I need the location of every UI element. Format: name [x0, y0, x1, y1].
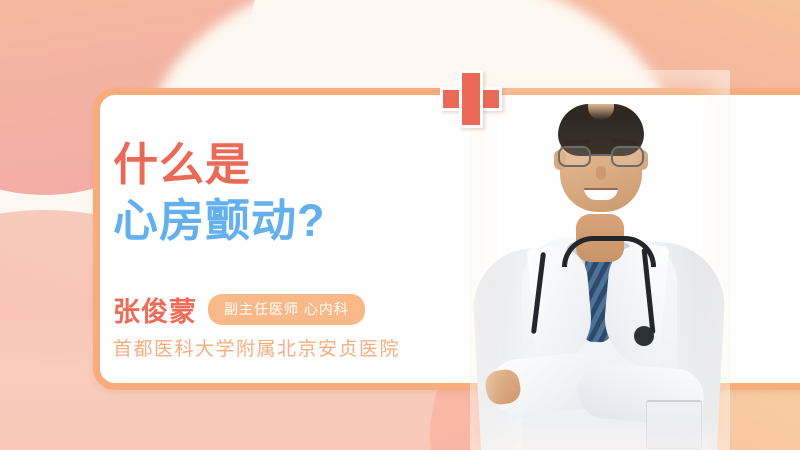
- health-topic-poster: 什么是 心房颤动? 张俊蒙 副主任医师 心内科 首都医科大学附属北京安贞医院: [0, 0, 800, 450]
- headline-block: 什么是 心房颤动?: [113, 140, 513, 247]
- title-line-2: 心房颤动?: [113, 196, 513, 246]
- doctor-name: 张俊蒙: [113, 290, 197, 329]
- doctor-identity-row: 张俊蒙 副主任医师 心内科: [113, 290, 365, 329]
- glasses-icon: [556, 146, 646, 168]
- hospital-name: 首都医科大学附属北京安贞医院: [113, 334, 400, 361]
- title-line-1: 什么是: [113, 140, 513, 190]
- coat-pocket: [646, 400, 702, 449]
- doctor-portrait: [470, 70, 730, 450]
- doctor-title-badge: 副主任医师 心内科: [208, 294, 365, 325]
- cross-center: [462, 90, 480, 108]
- glasses-lens-left: [558, 146, 591, 167]
- stethoscope-bell-icon: [634, 326, 654, 346]
- medical-cross-icon: [440, 70, 502, 128]
- nose: [596, 166, 606, 180]
- glasses-lens-right: [611, 146, 644, 167]
- glasses-bridge: [591, 154, 611, 156]
